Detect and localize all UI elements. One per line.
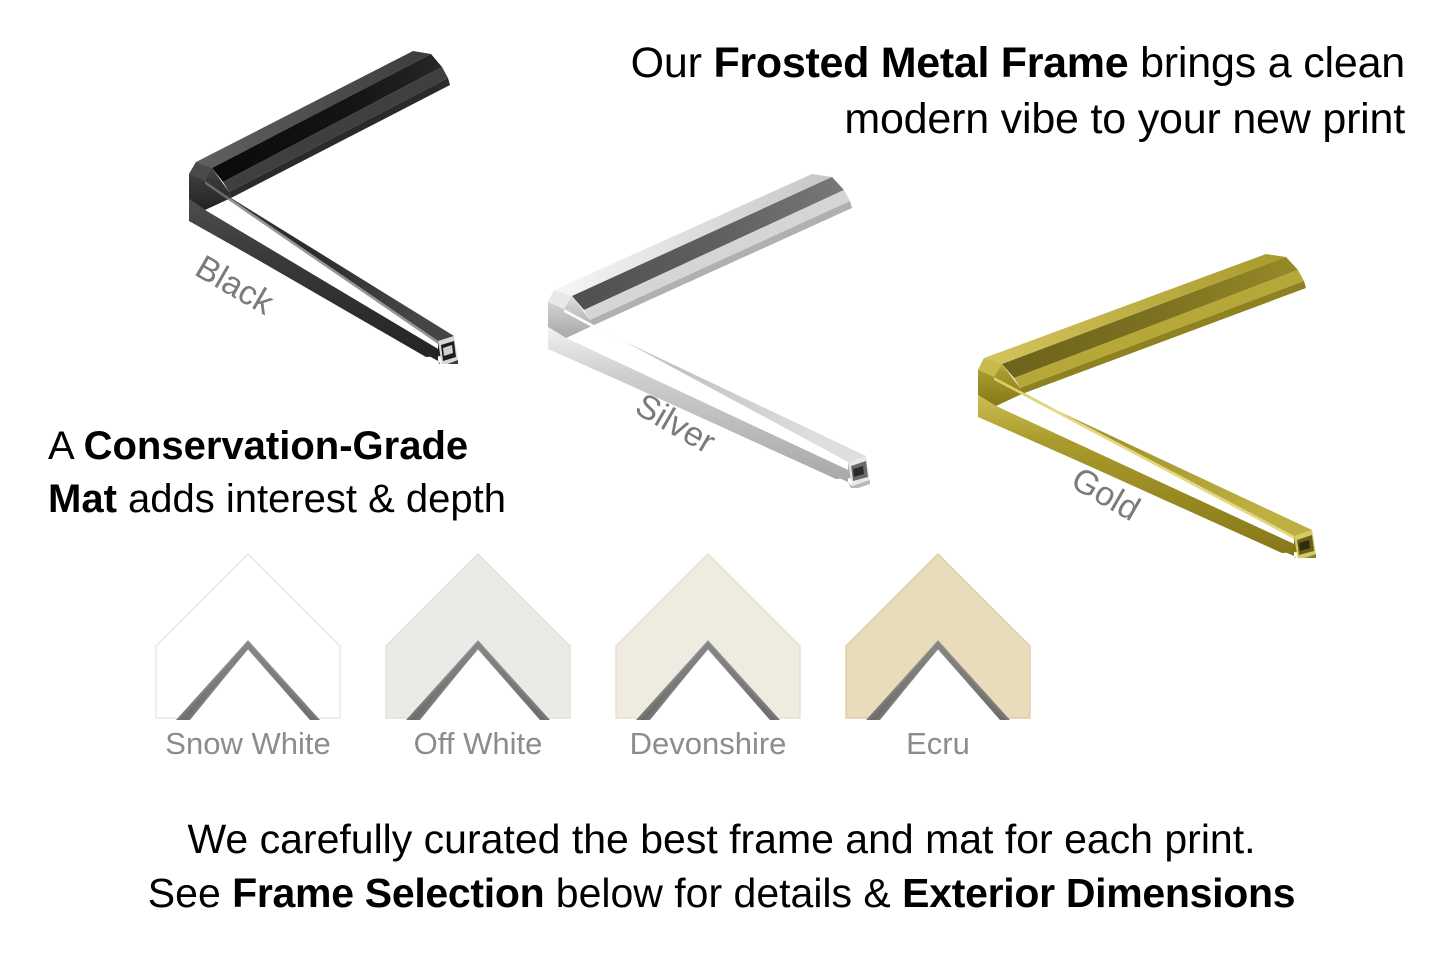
footer-line-2: See Frame Selection below for details & … [148, 870, 1295, 916]
devonshire-mat-illustration [610, 548, 806, 723]
mat-label-off-white: Off White [380, 726, 576, 762]
mat-swatch-snow-white[interactable]: Snow White [150, 548, 346, 778]
mat-heading-line-2: Mat adds interest & depth [48, 477, 506, 521]
headline: Our Frosted Metal Frame brings a clean m… [475, 36, 1405, 148]
ecru-mat-illustration [840, 548, 1036, 723]
gold-frame-illustration [966, 248, 1336, 558]
headline-emphasis-frame: Frosted Metal Frame [713, 39, 1128, 87]
infographic-canvas: Our Frosted Metal Frame brings a clean m… [0, 0, 1443, 953]
mat-swatch-ecru[interactable]: Ecru [840, 548, 1036, 778]
mat-heading-emphasis-mat: Mat [48, 477, 117, 521]
headline-line-1: Our Frosted Metal Frame brings a clean [631, 39, 1405, 87]
snow-white-mat-illustration [150, 548, 346, 723]
footer-emphasis-exterior-dimensions: Exterior Dimensions [902, 870, 1295, 916]
mat-swatch-row: Snow White Off White [150, 548, 1160, 778]
mat-heading-emphasis-grade: Conservation-Grade [84, 424, 469, 468]
mat-swatch-devonshire[interactable]: Devonshire [610, 548, 806, 778]
frame-sample-black: Black [86, 44, 476, 364]
mat-label-snow-white: Snow White [150, 726, 346, 762]
mat-heading-line-1: A Conservation-Grade [48, 424, 468, 468]
mat-label-ecru: Ecru [840, 726, 1036, 762]
footer-line-1: We carefully curated the best frame and … [187, 816, 1255, 862]
mat-heading: A Conservation-Grade Mat adds interest &… [48, 420, 688, 526]
black-frame-illustration [86, 44, 476, 364]
off-white-mat-illustration [380, 548, 576, 723]
footer-text: We carefully curated the best frame and … [0, 812, 1443, 920]
headline-line-2: modern vibe to your new print [844, 95, 1405, 143]
mat-label-devonshire: Devonshire [610, 726, 806, 762]
frame-sample-gold: Gold [966, 248, 1336, 558]
mat-swatch-off-white[interactable]: Off White [380, 548, 576, 778]
footer-emphasis-frame-selection: Frame Selection [232, 870, 544, 916]
